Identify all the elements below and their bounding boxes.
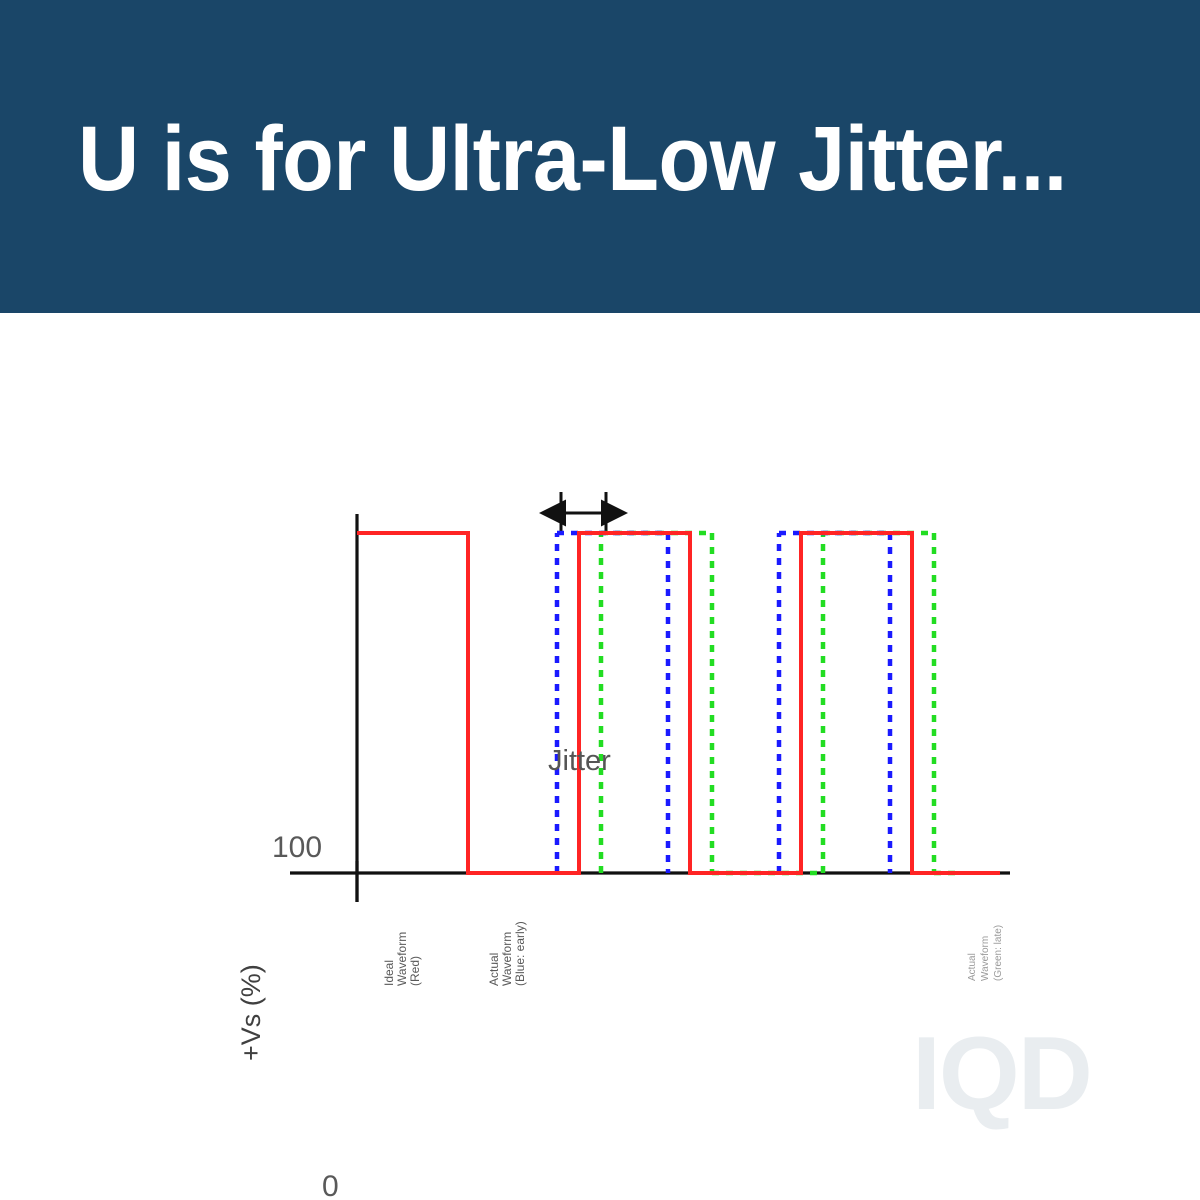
actual-blue-waveform-annotation: Actual Waveform (Blue: early) [488,921,527,986]
axis-lines [290,514,1010,902]
actual-green-line2: Waveform [979,925,992,981]
iqd-logo: IQD [912,1022,1091,1126]
ideal-waveform-line3: (Red) [409,932,422,986]
actual-green-line3: (Green: late) [992,925,1005,981]
y-tick-label-100: 100 [272,831,322,865]
actual-green-waveform-annotation: Actual Waveform (Green: late) [966,925,1005,981]
page-title: U is for Ultra-Low Jitter... [78,104,1081,214]
y-tick-label-0: 0 [322,1170,339,1200]
jitter-annotation-label: Jitter [548,745,611,778]
series-actual-blue [557,533,890,873]
actual-blue-line3: (Blue: early) [514,921,527,986]
jitter-marker [561,492,606,535]
actual-green-line1: Actual [966,925,979,981]
slide-canvas: U is for Ultra-Low Jitter... [0,0,1200,1200]
ideal-waveform-annotation: Ideal Waveform (Red) [383,932,422,986]
series-ideal-red [357,533,1000,873]
y-axis-label: +Vs (%) [236,964,267,1061]
header-band: U is for Ultra-Low Jitter... [0,0,1200,313]
